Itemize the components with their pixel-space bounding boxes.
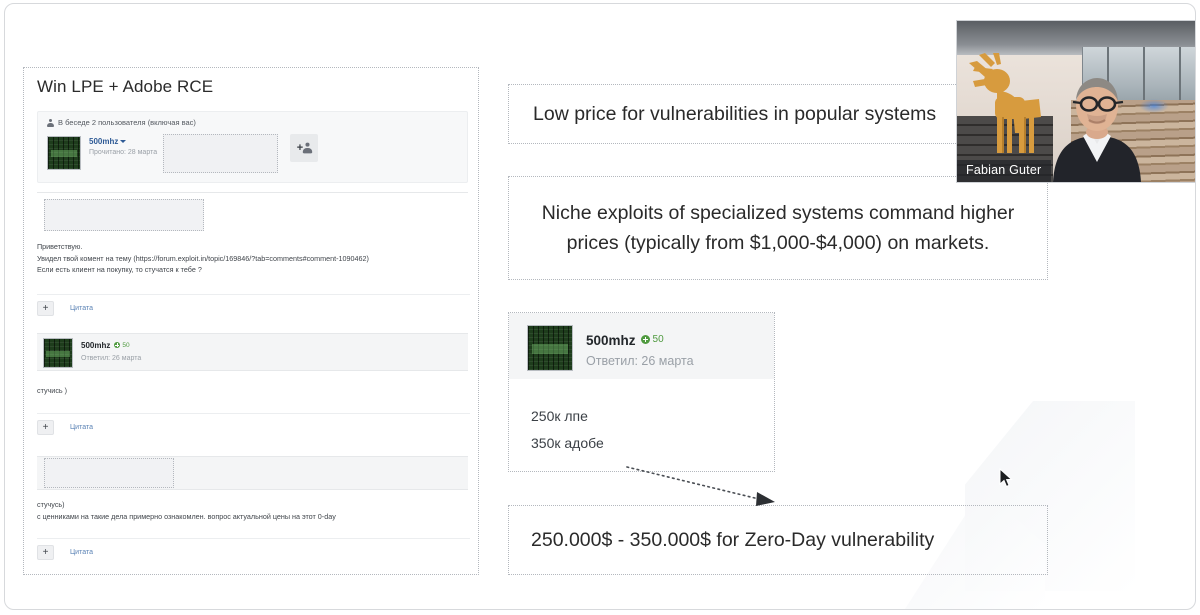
avatar-text-band <box>532 344 569 354</box>
reputation-badge: 50 <box>641 334 664 345</box>
quote-row-1: + Цитата <box>37 294 470 316</box>
avatar-text-band <box>46 351 70 357</box>
reputation-value: 50 <box>122 342 129 349</box>
plus-icon-button[interactable]: + <box>37 301 54 316</box>
person-icon <box>47 119 54 127</box>
divider <box>37 192 468 193</box>
post-author-name-text: 500mhz <box>81 341 110 350</box>
post-line: стучусь) <box>37 499 468 511</box>
quote-link[interactable]: Цитата <box>70 305 93 312</box>
forum-members-note-text: В беседе 2 пользователя (включая вас) <box>58 118 196 127</box>
quote-link[interactable]: Цитата <box>70 424 93 431</box>
callout-niche-exploits: Niche exploits of specialized systems co… <box>508 176 1048 280</box>
chevron-down-icon <box>120 140 126 143</box>
post-date: Ответил: 26 марта <box>81 355 141 362</box>
presenter-figure <box>1043 70 1151 182</box>
zoomed-post-card: 500mhz50 Ответил: 26 марта 250к лпе 350к… <box>508 312 775 472</box>
post-line: Приветствую. <box>37 241 468 253</box>
reputation-plus-icon <box>641 335 650 344</box>
avatar <box>43 338 73 368</box>
avatar <box>527 325 573 371</box>
plus-icon-button[interactable]: + <box>37 420 54 435</box>
forum-members-note: В беседе 2 пользователя (включая вас) <box>47 118 196 127</box>
post-body-3: стучусь) с ценниками на такие дела приме… <box>37 499 468 522</box>
presentation-slide: Win LPE + Adobe RCE В беседе 2 пользоват… <box>4 3 1196 610</box>
post-body-2: стучись ) <box>37 385 468 397</box>
forum-screenshot-panel: Win LPE + Adobe RCE В беседе 2 пользоват… <box>23 67 479 575</box>
quote-row-2: + Цитата <box>37 413 470 435</box>
post-line: Если есть клиент на покупку, то стучатся… <box>37 264 468 276</box>
placeholder-slot-members <box>163 134 278 173</box>
post-body-1: Приветствую. Увидел твой комент на тему … <box>37 241 468 276</box>
zoomed-post-line: 350к адобе <box>531 435 604 451</box>
forum-topic-title: Win LPE + Adobe RCE <box>37 77 213 97</box>
zoomed-post-author: 500mhz50 <box>586 333 664 348</box>
plus-icon-button[interactable]: + <box>37 545 54 560</box>
post-line: стучись ) <box>37 385 468 397</box>
presenter-name-label: Fabian Guter <box>957 160 1051 182</box>
placeholder-slot-post-3 <box>44 458 174 488</box>
video-overlay[interactable]: Fabian Guter <box>956 20 1196 183</box>
moose-sculpture-icon <box>967 47 1053 155</box>
add-user-person-icon <box>303 143 312 154</box>
quote-row-3: + Цитата <box>37 538 470 560</box>
zoomed-post-author-text: 500mhz <box>586 333 636 348</box>
callout-zero-day-price: 250.000$ - 350.000$ for Zero-Day vulnera… <box>508 505 1048 575</box>
avatar <box>47 136 81 170</box>
mouse-cursor <box>999 468 1013 488</box>
placeholder-slot-post-1 <box>44 199 204 231</box>
post-line: Увидел твой комент на тему (https://foru… <box>37 253 468 265</box>
reputation-value: 50 <box>653 334 664 345</box>
post-header-2: 500mhz50 Ответил: 26 марта <box>37 333 468 371</box>
forum-member-read-status: Прочитано: 28 марта <box>89 149 157 156</box>
forum-member-name-text: 500mhz <box>89 137 118 146</box>
post-author-name: 500mhz50 <box>81 341 130 350</box>
zoomed-post-date: Ответил: 26 марта <box>586 354 694 368</box>
add-user-button[interactable]: + <box>290 134 318 162</box>
forum-members-box: В беседе 2 пользователя (включая вас) 50… <box>37 111 468 183</box>
reputation-plus-icon <box>114 342 120 348</box>
zoomed-post-line: 250к лпе <box>531 408 588 424</box>
quote-link[interactable]: Цитата <box>70 549 93 556</box>
reputation-badge: 50 <box>114 342 129 349</box>
avatar-text-band <box>51 150 78 157</box>
post-line: с ценниками на такие дела примерно ознак… <box>37 511 468 523</box>
forum-member-name-link[interactable]: 500mhz <box>89 137 126 146</box>
